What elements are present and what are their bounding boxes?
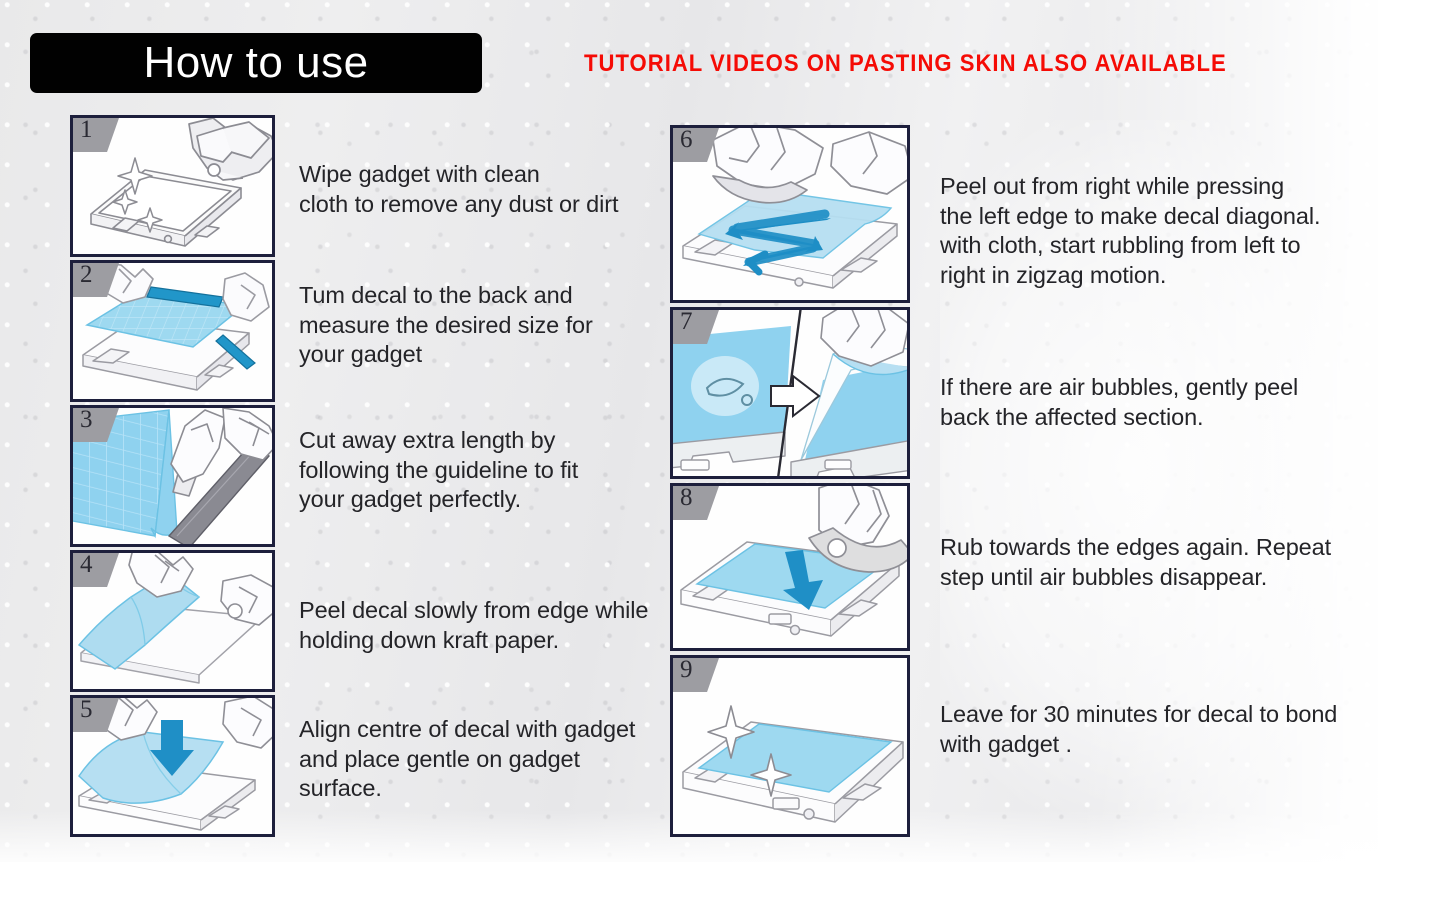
step-panel-2: 2	[70, 260, 275, 402]
step-text-4: Peel decal slowly from edge while holdin…	[299, 596, 679, 655]
step-text-8: Rub towards the edges again. Repeat step…	[940, 533, 1340, 592]
step-text-6: Peel out from right while pressing the l…	[940, 172, 1340, 290]
step-text-7: If there are air bubbles, gently peel ba…	[940, 373, 1340, 432]
step-panel-7: 7	[670, 307, 910, 479]
step-text-2: Tum decal to the back and measure the de…	[299, 281, 659, 370]
step-panel-8: 8	[670, 483, 910, 651]
step-text-5: Align centre of decal with gadget and pl…	[299, 715, 679, 804]
step-panel-4: 4	[70, 550, 275, 692]
step-panel-6: 6	[670, 125, 910, 303]
step-panel-9: 9	[670, 655, 910, 837]
page-title-banner: How to use	[30, 33, 482, 93]
step-text-1: Wipe gadget with clean cloth to remove a…	[299, 160, 659, 219]
step-panel-5: 5	[70, 695, 275, 837]
step-panel-1: 1	[70, 115, 275, 257]
tutorial-videos-note: TUTORIAL VIDEOS ON PASTING SKIN ALSO AVA…	[584, 50, 1329, 78]
how-to-use-infographic: How to use TUTORIAL VIDEOS ON PASTING SK…	[0, 0, 1440, 900]
step-text-9: Leave for 30 minutes for decal to bond w…	[940, 700, 1340, 759]
step-panel-3: 3	[70, 405, 275, 547]
page-title: How to use	[143, 38, 368, 88]
step-text-3: Cut away extra length by following the g…	[299, 426, 669, 515]
